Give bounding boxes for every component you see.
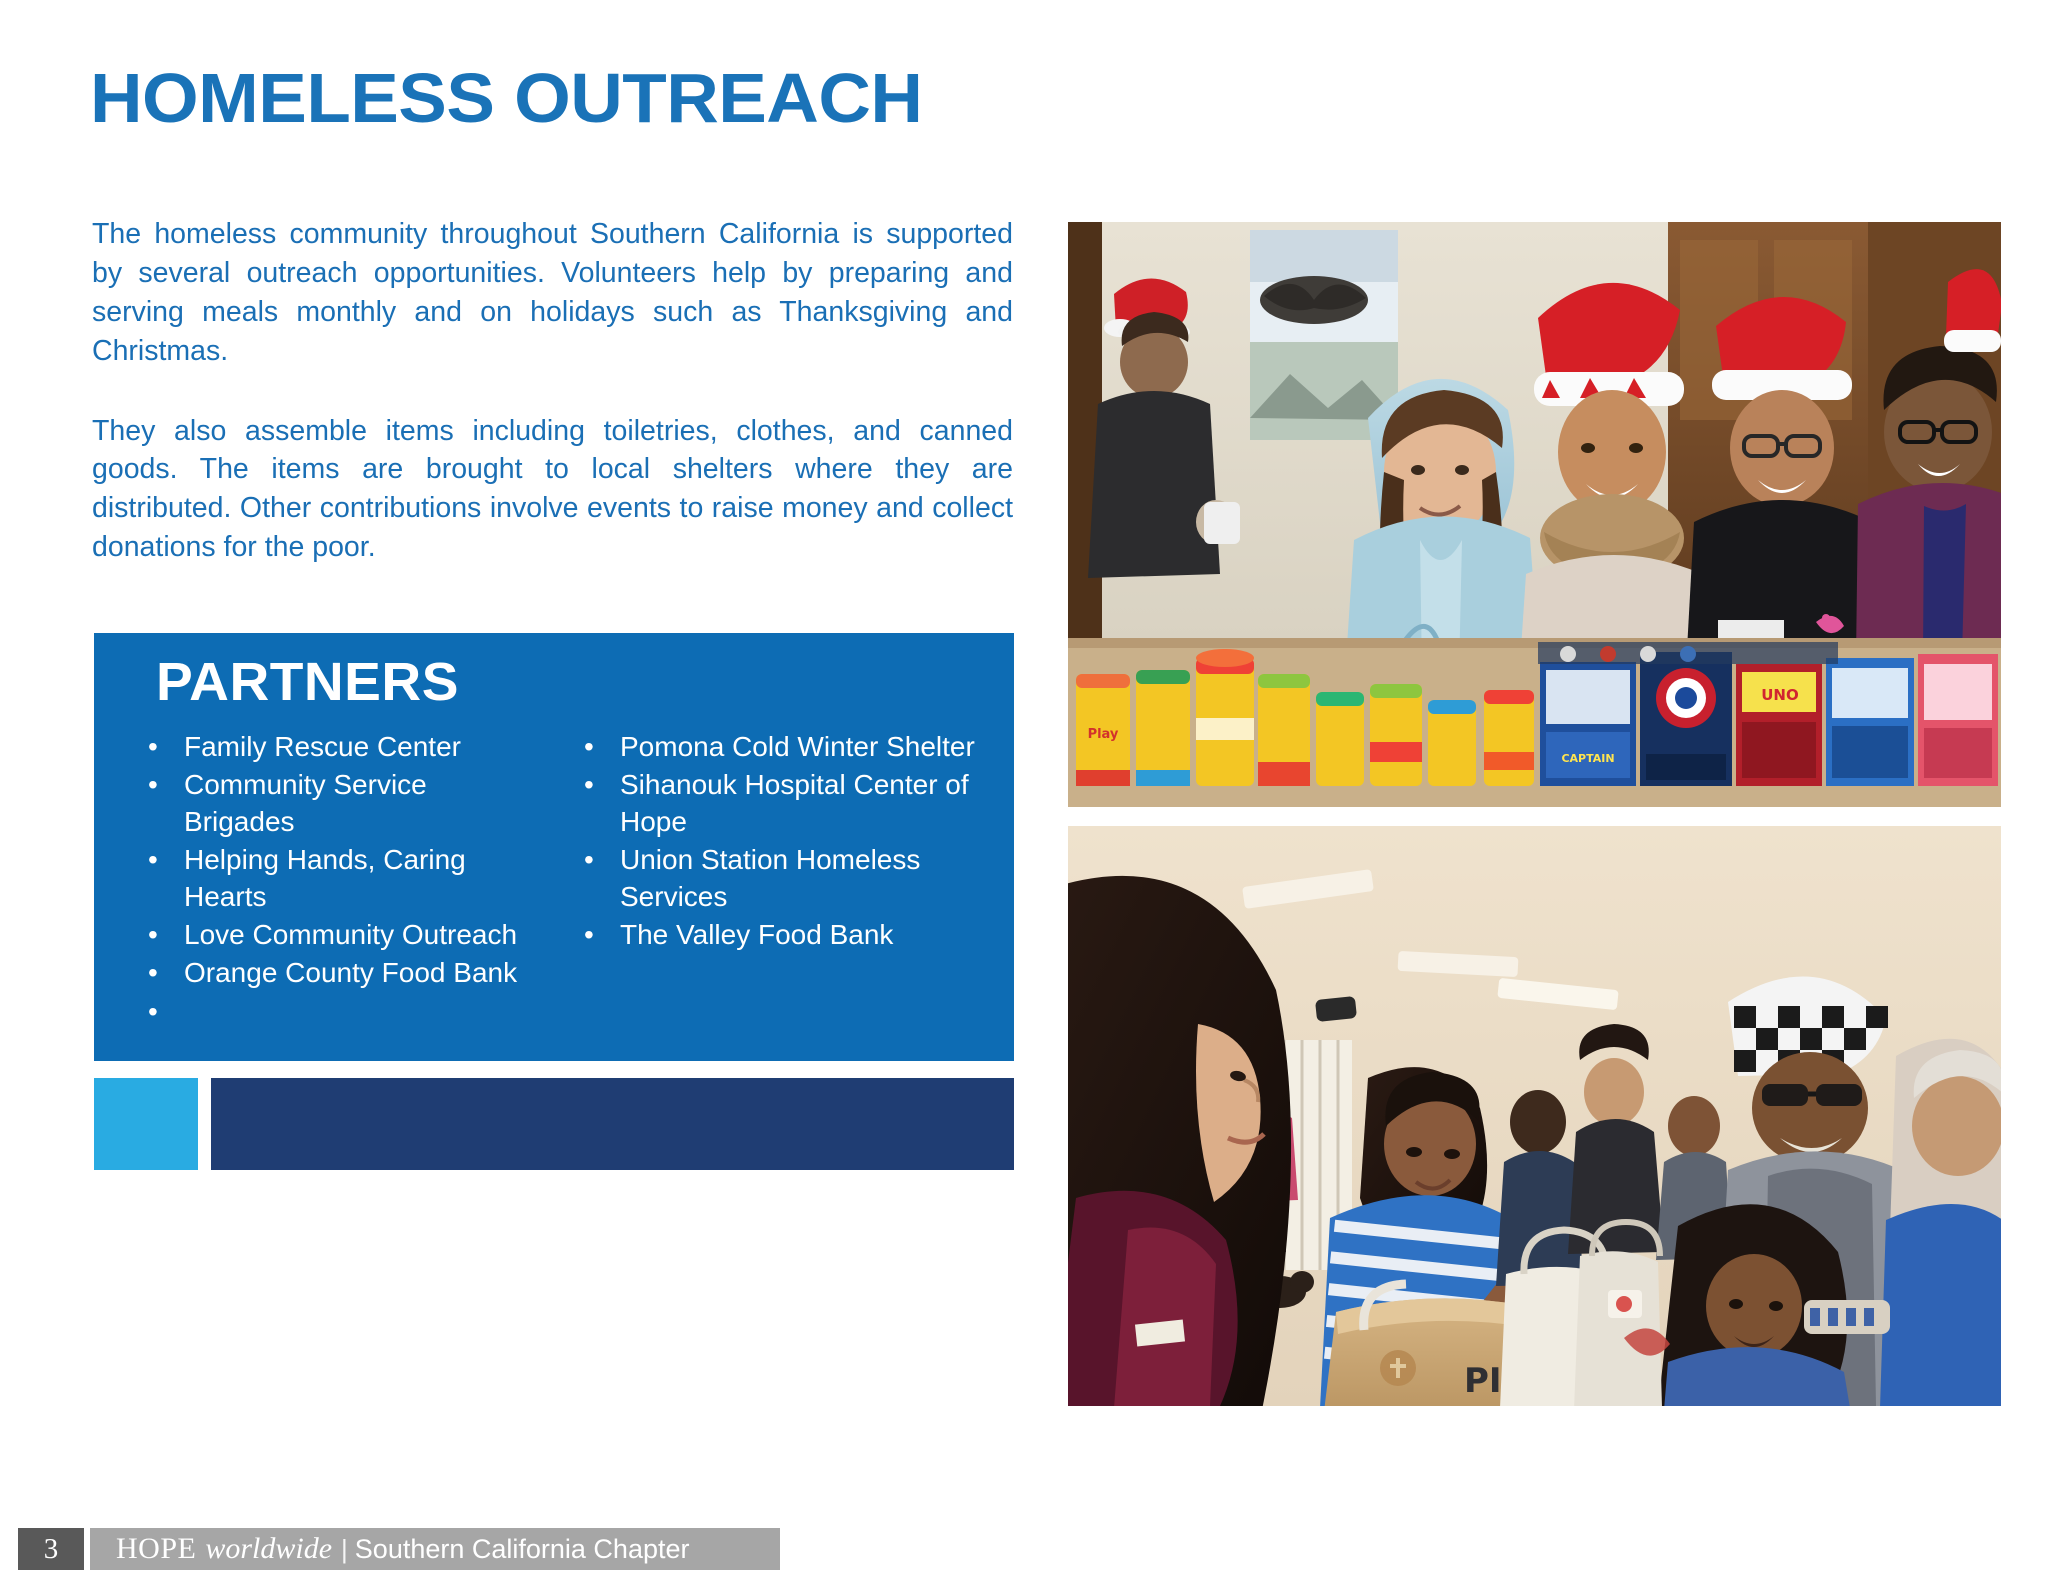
list-item-label: The Valley Food Bank (620, 919, 893, 950)
list-item: • Community Service Brigades (108, 767, 544, 840)
list-item-label: Community Service Brigades (184, 769, 427, 836)
bullet-icon: • (148, 955, 158, 991)
footer-org-name: HOPE (116, 1532, 196, 1566)
svg-text:Play: Play (1088, 727, 1119, 742)
footer: 3 HOPE worldwide | Southern California C… (18, 1528, 780, 1570)
list-item-label: Pomona Cold Winter Shelter (620, 731, 975, 762)
footer-organization-bar: HOPE worldwide | Southern California Cha… (90, 1528, 780, 1570)
partners-list-right: • Pomona Cold Winter Shelter • Sihanouk … (544, 729, 1004, 953)
list-item: • Pomona Cold Winter Shelter (544, 729, 1004, 765)
partners-panel: PARTNERS • Family Rescue Center • Commun… (94, 633, 1014, 1061)
decorative-bar-navy (211, 1078, 1014, 1170)
list-item: • Orange County Food Bank (108, 955, 544, 991)
bullet-icon: • (584, 729, 594, 765)
list-item: • Sihanouk Hospital Center of Hope (544, 767, 1004, 840)
svg-text:CAPTAIN: CAPTAIN (1561, 752, 1614, 765)
list-item: • The Valley Food Bank (544, 917, 1004, 953)
bullet-icon: • (148, 729, 158, 765)
bullet-icon: • (584, 767, 594, 803)
body-paragraph-2: They also assemble items including toile… (92, 412, 1013, 568)
bullet-icon: • (584, 842, 594, 878)
partners-columns: • Family Rescue Center • Community Servi… (94, 729, 1014, 1030)
bullet-icon: • (148, 917, 158, 953)
footer-chapter-name: Southern California Chapter (355, 1534, 690, 1565)
list-item: • Helping Hands, Caring Hearts (108, 842, 544, 915)
partners-list-left: • Family Rescue Center • Community Servi… (108, 729, 544, 1028)
decorative-bar-row (94, 1078, 1014, 1170)
bullet-icon: • (148, 767, 158, 803)
bullet-icon: • (584, 917, 594, 953)
list-item-label: Union Station Homeless Services (620, 844, 920, 911)
list-item: • Family Rescue Center (108, 729, 544, 765)
photo-santa-hat-volunteers: Play CAPTAI (1068, 222, 2001, 807)
list-item-label: Orange County Food Bank (184, 957, 517, 988)
photo-bottom-artwork: PIZZA (1068, 826, 2001, 1406)
svg-text:UNO: UNO (1761, 686, 1799, 704)
decorative-square-light-blue (94, 1078, 198, 1170)
list-item: • Love Community Outreach (108, 917, 544, 953)
bullet-icon: • (148, 994, 158, 1030)
list-item-label: Love Community Outreach (184, 919, 517, 950)
page-number: 3 (18, 1528, 84, 1570)
body-text-column: The homeless community throughout Southe… (92, 215, 1013, 567)
footer-separator: | (341, 1534, 348, 1565)
partners-heading: PARTNERS (156, 651, 1031, 713)
page-title: HOMELESS OUTREACH (90, 63, 922, 133)
list-item-empty: • (108, 994, 544, 1028)
partners-column-left: • Family Rescue Center • Community Servi… (94, 729, 544, 1030)
bullet-icon: • (148, 842, 158, 878)
list-item-label: Family Rescue Center (184, 731, 461, 762)
footer-org-suffix: worldwide (205, 1532, 332, 1566)
list-item-label: Sihanouk Hospital Center of Hope (620, 769, 969, 836)
list-item-label: Helping Hands, Caring Hearts (184, 844, 466, 911)
list-item: • Union Station Homeless Services (544, 842, 1004, 915)
body-paragraph-1: The homeless community throughout Southe… (92, 215, 1013, 371)
photo-bag-distribution: PIZZA (1068, 826, 2001, 1406)
photo-top-artwork: Play CAPTAI (1068, 222, 2001, 807)
partners-column-right: • Pomona Cold Winter Shelter • Sihanouk … (544, 729, 1004, 955)
